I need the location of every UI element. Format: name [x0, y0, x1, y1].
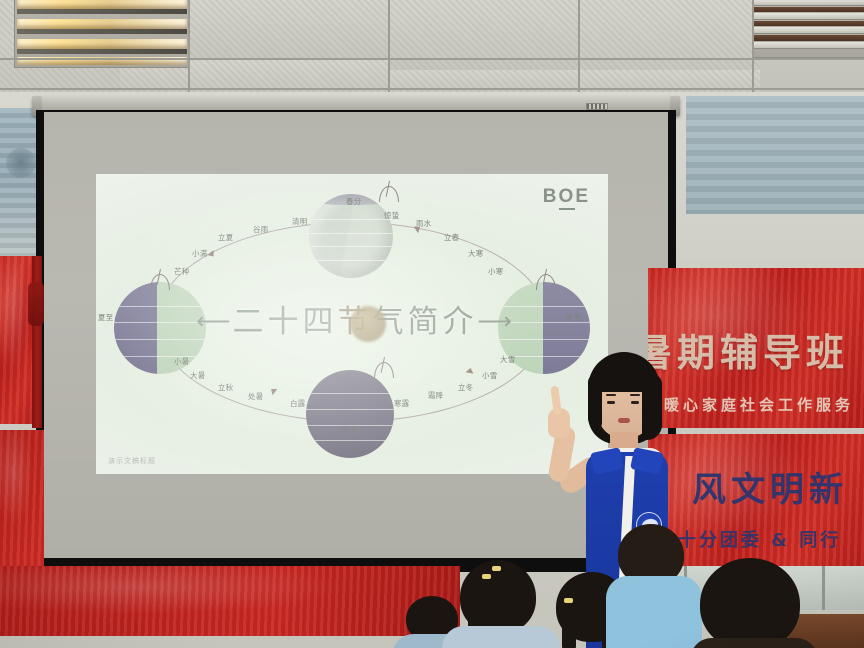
banner-main-text: 风文明新 [692, 462, 848, 511]
presenter-hair-side [588, 374, 602, 428]
axis-spring [379, 186, 399, 202]
solar-term-label: 小雪 [482, 370, 497, 381]
slide-title: ⟵ 二 十 四 节 气 简 介 ⟶ [184, 302, 524, 342]
solar-term-label: 立春 [444, 232, 459, 243]
autumn-equinox-globe [306, 370, 394, 458]
solar-term-label: 立夏 [218, 232, 233, 243]
solar-term-label: 大雪 [500, 354, 515, 365]
solar-term-label: 大寒 [468, 248, 483, 259]
title-highlight-blob [350, 306, 386, 342]
arrow-left-icon: ⟵ [196, 310, 230, 334]
suspended-ceiling [0, 0, 864, 96]
roller-brand-plate [586, 103, 608, 110]
solar-term-label: 小寒 [488, 266, 503, 277]
photo-scene: BOE [0, 0, 864, 648]
solar-term-label: 霜降 [428, 390, 443, 401]
solar-term-label: 小满 [192, 248, 207, 259]
solar-term-label: 清明 [292, 216, 307, 227]
solar-term-label: 处暑 [248, 391, 263, 402]
presenter-mouth [618, 418, 630, 423]
solar-term-label: 寒露 [394, 398, 409, 409]
solar-term-label: 白露 [290, 398, 305, 409]
solar-term-label: 芒种 [174, 266, 189, 277]
presenter-hair-side [642, 374, 662, 440]
solar-term-label: 小暑 [174, 356, 189, 367]
solar-term-label: 立冬 [458, 382, 473, 393]
solar-term-label: 谷雨 [253, 224, 268, 235]
banner-knot [28, 282, 44, 326]
arrow-right-icon: ⟶ [478, 310, 512, 334]
axis-summer [150, 274, 170, 290]
title-char: 介 [443, 307, 476, 338]
solar-term-label: 惊蛰 [384, 210, 399, 221]
solar-term-label: 春分 [346, 196, 361, 207]
solar-term-label: 秋分 [342, 424, 357, 435]
title-char: 四 [303, 307, 336, 338]
window-shade-right [686, 96, 864, 214]
solar-term-label: 立秋 [218, 382, 233, 393]
boe-logo: BOE [543, 186, 590, 208]
slide-canvas: BOE [96, 174, 608, 474]
slide-footer-text: 演示文稿标题 [108, 456, 156, 466]
solar-term-label: 冬至 [566, 312, 581, 323]
solar-term-label: 大暑 [190, 370, 205, 381]
title-char: 十 [268, 307, 301, 338]
solar-term-label: 夏至 [98, 312, 113, 323]
banner-bottom-strip [0, 566, 460, 636]
title-char: 二 [233, 307, 266, 338]
child-right [690, 558, 820, 648]
banner-left-lower [0, 430, 44, 568]
title-char: 简 [408, 307, 441, 338]
axis-winter [536, 274, 556, 290]
